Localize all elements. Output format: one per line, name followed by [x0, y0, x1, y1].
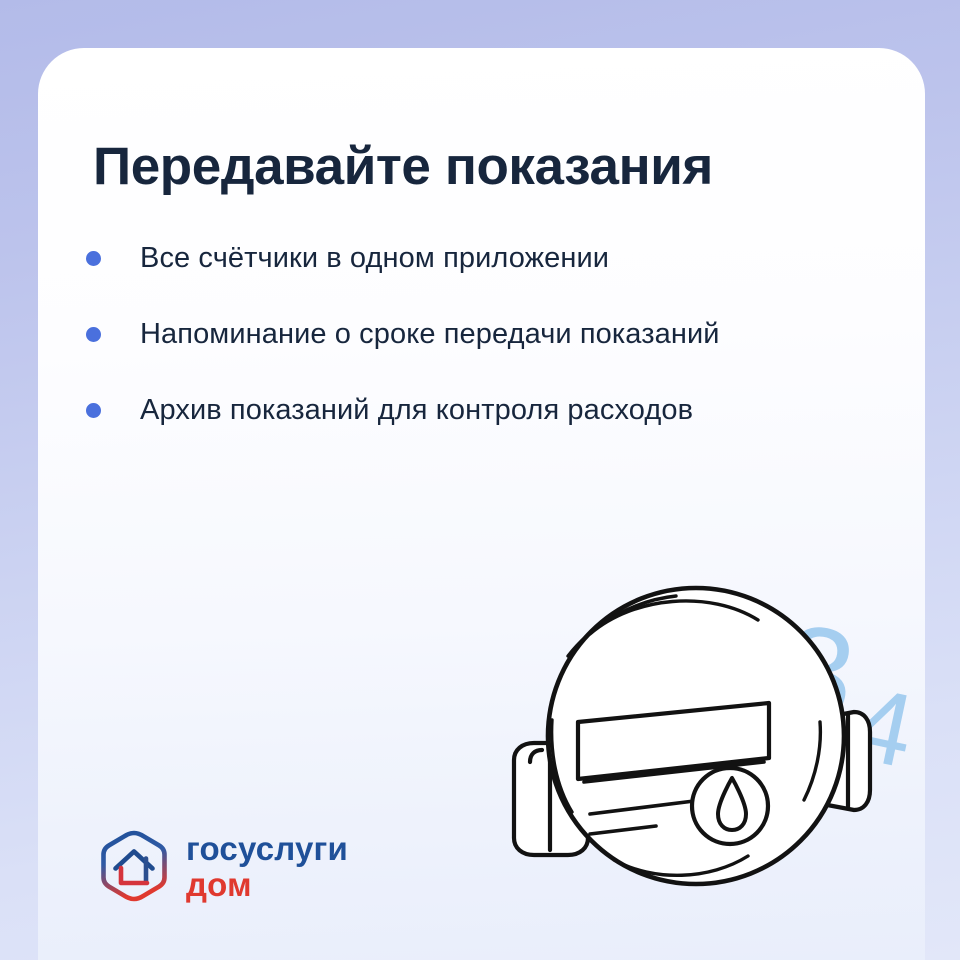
brand-name-secondary: дом	[186, 868, 348, 901]
water-drop-dial	[692, 768, 768, 844]
list-item-label: Архив показаний для контроля расходов	[140, 394, 693, 427]
page-title: Передавайте показания	[93, 138, 893, 195]
brand-wordmark: госуслуги дом	[186, 832, 348, 901]
brand-name-primary: госуслуги	[186, 832, 348, 865]
list-item-label: Напоминание о сроке передачи показаний	[140, 318, 720, 351]
hexagon-house-icon	[96, 828, 172, 904]
list-item-label: Все счётчики в одном приложении	[140, 242, 609, 275]
bullet-dot-icon	[86, 327, 101, 342]
water-meter-illustration: 0 1 3 4	[418, 538, 925, 918]
promo-card: Передавайте показания Все счётчики в одн…	[38, 48, 925, 960]
feature-list: Все счётчики в одном приложении Напомина…	[86, 220, 896, 448]
list-item: Архив показаний для контроля расходов	[86, 372, 896, 448]
bullet-dot-icon	[86, 403, 101, 418]
list-item: Все счётчики в одном приложении	[86, 220, 896, 296]
list-item: Напоминание о сроке передачи показаний	[86, 296, 896, 372]
bullet-dot-icon	[86, 251, 101, 266]
brand-logo: госуслуги дом	[96, 828, 348, 904]
